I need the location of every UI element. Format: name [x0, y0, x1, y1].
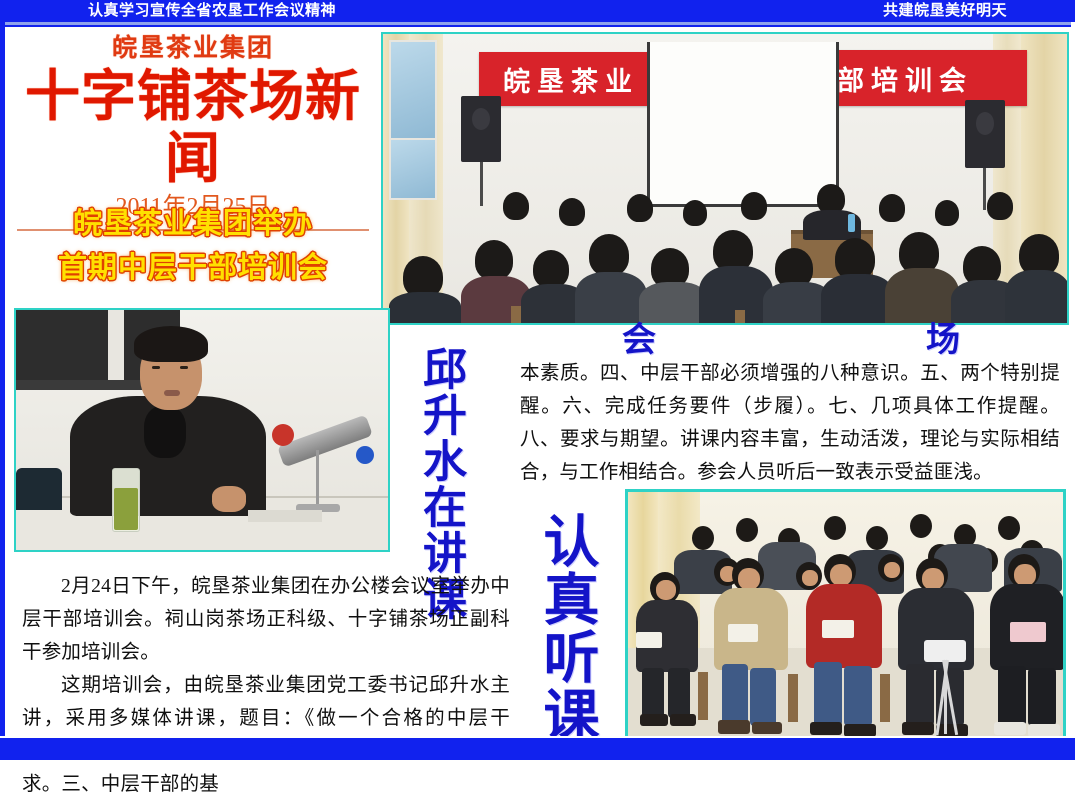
- banner-rule-bottom: [0, 27, 1075, 29]
- article-paragraph-3: 本素质。四、中层干部必须增强的八种意识。五、两个特别提醒。六、完成任务要件（步履…: [520, 357, 1060, 489]
- lecturer-portrait-photo: [14, 308, 390, 552]
- banner-slogan-left: 认真学习宣传全省农垦工作会议精神: [88, 1, 336, 21]
- newsletter-page: 认真学习宣传全省农垦工作会议精神 共建皖垦美好明天 皖垦茶业集团 十字铺茶场新闻…: [0, 0, 1075, 760]
- article-body-left-column: 2月24日下午，皖垦茶业集团在办公楼会议室举办中层干部培训会。祠山岗茶场正科级、…: [22, 570, 510, 801]
- page-title: 十字铺茶场新闻: [8, 66, 378, 190]
- caption-hall-char-2: 场: [900, 324, 986, 358]
- bottom-banner: [0, 738, 1075, 760]
- page-frame-left: [0, 22, 5, 738]
- hall-banner-text-right: 部培训会: [819, 50, 1027, 106]
- caption-listening: 认真听课: [538, 512, 594, 744]
- caption-hall-char-1: 会: [596, 324, 682, 358]
- banner-slogan-right: 共建皖垦美好明天: [883, 1, 1007, 21]
- top-banner: 认真学习宣传全省农垦工作会议精神 共建皖垦美好明天: [0, 0, 1075, 22]
- page-frame-right: [1071, 22, 1075, 738]
- masthead-group-name: 皖垦茶业集团: [8, 34, 378, 64]
- article-paragraph-1: 2月24日下午，皖垦茶业集团在办公楼会议室举办中层干部培训会。祠山岗茶场正科级、…: [22, 570, 510, 669]
- audience-listening-photo: [625, 489, 1066, 747]
- caption-meeting-venue: 会 场: [596, 324, 986, 358]
- article-body-right-column: 本素质。四、中层干部必须增强的八种意识。五、两个特别提醒。六、完成任务要件（步履…: [520, 357, 1060, 489]
- article-headline: 皖垦茶业集团举办 首期中层干部培训会: [8, 202, 378, 290]
- training-meeting-hall-photo: 皖垦茶业 部培训会: [381, 32, 1069, 325]
- article-paragraph-2: 这期培训会，由皖垦茶业集团党工委书记邱升水主讲，采用多媒体讲课，题目：《做一个合…: [22, 669, 510, 801]
- headline-line-2: 首期中层干部培训会: [8, 246, 378, 290]
- headline-line-1: 皖垦茶业集团举办: [8, 202, 378, 246]
